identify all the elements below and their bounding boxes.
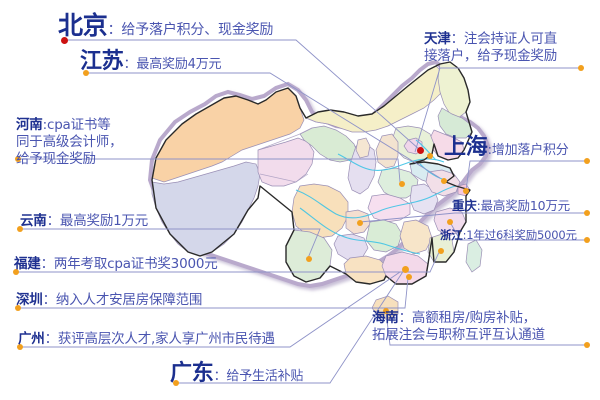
- map-marker-chongqing: [357, 220, 363, 226]
- annotation-tianjin[interactable]: 天津：注会持证人可直 接落户，给予现金奖励: [424, 28, 557, 65]
- annotation-guangzhou-text: 获评高层次人才,家人享广州市民待遇: [58, 331, 275, 347]
- annotation-hainan[interactable]: 海南：高额租房/购房补贴， 拓展注会与职称互评互认通道: [372, 307, 545, 344]
- label-dot-chongqing: [584, 210, 590, 216]
- annotation-fujian-text: 两年考取cpa证书奖3000元: [54, 256, 218, 272]
- annotation-guangdong-sep: ：: [214, 369, 227, 384]
- annotation-fujian-sep: ：: [41, 256, 54, 272]
- annotation-shenzhen-sep: ：: [43, 292, 56, 308]
- annotation-zhejiang-province: 浙江: [440, 228, 463, 242]
- annotation-tianjin-line1: 注会持证人可直: [464, 31, 557, 47]
- map-marker-jiangsu: [441, 178, 447, 184]
- annotation-guangzhou[interactable]: 广州：获评高层次人才,家人享广州市民待遇: [18, 328, 275, 348]
- annotation-zhejiang-text: 1年过6科奖励5000元: [466, 228, 577, 242]
- map-marker-guangdong: [402, 266, 409, 273]
- annotation-henan-line2: 同于高级会计师，: [16, 134, 122, 151]
- map-marker-tianjin: [427, 153, 433, 159]
- annotation-beijing[interactable]: 北京：给予落户积分、现金奖励: [58, 10, 273, 41]
- annotation-chongqing-province: 重庆: [452, 198, 477, 213]
- annotation-chongqing[interactable]: 重庆:最高奖励10万元: [452, 195, 570, 215]
- annotation-jiangsu-text: 最高奖励4万元: [136, 57, 221, 72]
- map-marker-henan: [399, 181, 405, 187]
- annotation-henan-line1: cpa证书等: [47, 117, 111, 133]
- annotation-tianjin-line2: 接落户，给予现金奖励: [424, 48, 557, 65]
- annotation-jiangsu[interactable]: 江苏：最高奖励4万元: [80, 48, 221, 76]
- annotation-jiangsu-province: 江苏: [80, 49, 124, 74]
- annotation-shanghai-text: 增加落户积分: [492, 143, 569, 158]
- annotation-guangdong-province: 广东: [170, 361, 214, 386]
- map-marker-fujian: [438, 248, 444, 254]
- annotation-fujian-province: 福建: [14, 256, 41, 272]
- map-marker-shenzhen: [406, 274, 412, 280]
- infographic-root: 北京：给予落户积分、现金奖励 江苏：最高奖励4万元 河南:cpa证书等 同于高级…: [0, 0, 600, 400]
- annotation-zhejiang[interactable]: 浙江:1年过6科奖励5000元: [440, 224, 577, 244]
- annotation-henan-province: 河南: [16, 117, 43, 133]
- annotation-shenzhen-province: 深圳: [16, 292, 43, 308]
- label-dot-zhejiang: [584, 237, 590, 243]
- annotation-guangzhou-province: 广州: [18, 331, 45, 347]
- annotation-beijing-province: 北京: [58, 11, 108, 40]
- label-dot-hainan: [584, 342, 590, 348]
- annotation-henan-line3: 给予现金奖励: [16, 151, 122, 168]
- label-dot-tianjin: [578, 65, 584, 71]
- map-marker-beijing: [417, 147, 424, 154]
- annotation-guangdong[interactable]: 广东：给予生活补贴: [170, 360, 303, 388]
- annotation-hainan-line2: 拓展注会与职称互评互认通道: [372, 327, 545, 344]
- annotation-hainan-province: 海南: [372, 310, 399, 326]
- annotation-hainan-line1: 高额租房/购房补贴，: [412, 310, 536, 326]
- annotation-henan[interactable]: 河南:cpa证书等 同于高级会计师， 给予现金奖励: [16, 114, 122, 168]
- annotation-jiangsu-sep: ：: [124, 57, 137, 72]
- annotation-hainan-sep: ：: [399, 310, 412, 326]
- annotation-yunnan-province: 云南: [20, 213, 47, 229]
- map-marker-yunnan: [306, 256, 312, 262]
- annotation-guangzhou-sep: ：: [45, 331, 58, 347]
- annotation-shenzhen-text: 纳入人才安居房保障范围: [56, 292, 202, 308]
- annotation-fujian[interactable]: 福建：两年考取cpa证书奖3000元: [14, 253, 218, 273]
- annotation-yunnan[interactable]: 云南：最高奖励1万元: [20, 210, 148, 230]
- annotation-shanghai-province: 上海: [444, 135, 488, 160]
- annotation-tianjin-province: 天津: [424, 31, 451, 47]
- map-marker-shanghai: [463, 188, 469, 194]
- label-dot-shanghai: [584, 158, 590, 164]
- annotation-shenzhen[interactable]: 深圳：纳入人才安居房保障范围: [16, 289, 202, 309]
- annotation-tianjin-sep: ：: [451, 31, 464, 47]
- annotation-beijing-sep: ：: [108, 22, 122, 38]
- annotation-chongqing-text: 最高奖励10万元: [481, 198, 570, 213]
- annotation-yunnan-text: 最高奖励1万元: [60, 213, 148, 229]
- annotation-shanghai[interactable]: 上海:增加落户积分: [444, 134, 569, 162]
- annotation-yunnan-sep: ：: [47, 213, 60, 229]
- annotation-guangdong-text: 给予生活补贴: [226, 369, 303, 384]
- annotation-beijing-text: 给予落户积分、现金奖励: [121, 22, 273, 38]
